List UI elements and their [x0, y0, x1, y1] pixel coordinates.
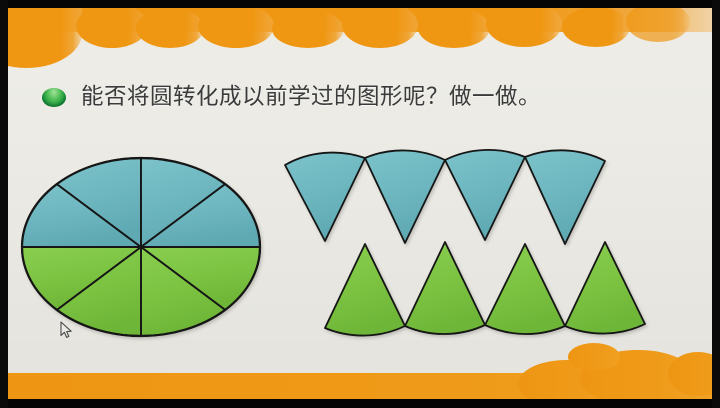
figures-layer	[8, 8, 712, 399]
green-sector-2	[405, 242, 485, 334]
green-sector-3	[485, 244, 565, 334]
letterbox-right	[712, 0, 720, 408]
prompt-text: 能否将圆转化成以前学过的图形呢？做一做。	[81, 86, 541, 109]
letterbox-bottom	[0, 399, 720, 408]
letterbox-left	[0, 0, 8, 408]
blue-sector-row	[285, 150, 605, 244]
lesson-slide: 能否将圆转化成以前学过的图形呢？做一做。	[8, 8, 712, 399]
mouse-cursor	[60, 321, 73, 339]
prompt-line: 能否将圆转化成以前学过的图形呢？做一做。	[42, 86, 541, 109]
blue-sector-1	[285, 153, 365, 241]
watermark-text: · · · ·	[14, 382, 57, 393]
blue-sector-4	[525, 150, 605, 244]
video-frame: 能否将圆转化成以前学过的图形呢？做一做。	[0, 0, 720, 408]
blue-sector-3	[445, 150, 525, 240]
green-sector-4	[565, 242, 645, 334]
green-sector-row	[325, 242, 645, 336]
sectored-circle-figure	[22, 158, 260, 336]
blue-sector-2	[365, 150, 445, 243]
green-sector-1	[325, 244, 405, 336]
letterbox-top	[0, 0, 720, 8]
green-bullet-icon	[42, 88, 66, 107]
